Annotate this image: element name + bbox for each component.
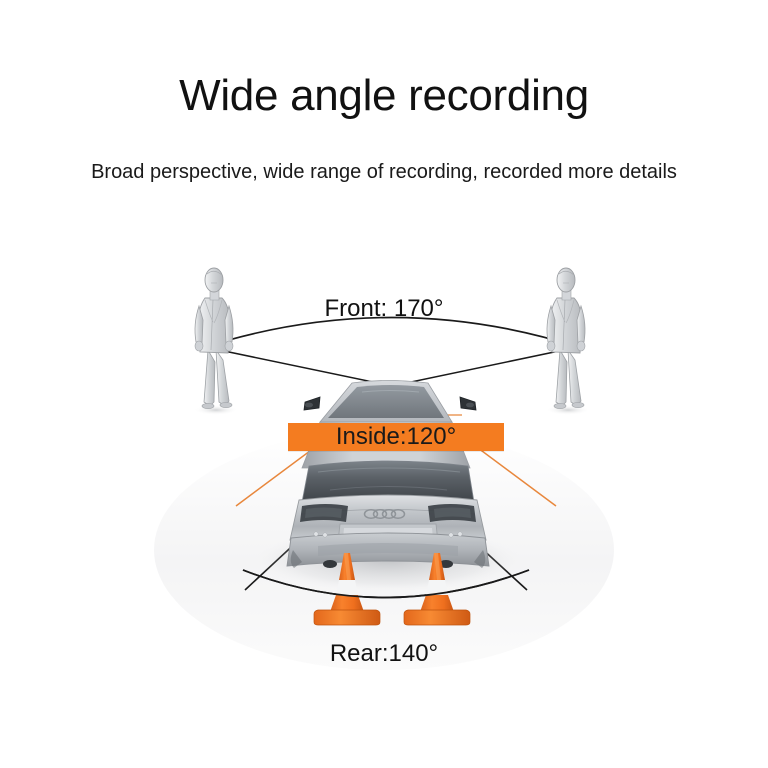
rear-angle-label: Rear:140°	[0, 640, 768, 668]
inside-angle-text: Inside:120°	[336, 423, 456, 451]
rear-angle-text: Rear:140°	[330, 640, 438, 667]
inside-angle-badge: Inside:120°	[288, 423, 504, 451]
page-subtitle: Broad perspective, wide range of recordi…	[0, 158, 768, 186]
front-angle-text: Front: 170°	[325, 295, 444, 322]
infographic-canvas: Wide angle recording Broad perspective, …	[0, 0, 768, 768]
person-left-figure	[194, 268, 238, 415]
page-title: Wide angle recording	[0, 70, 768, 122]
front-angle-label: Front: 170°	[0, 295, 768, 323]
person-right-figure	[546, 268, 590, 415]
front-fov-lines	[205, 318, 578, 387]
